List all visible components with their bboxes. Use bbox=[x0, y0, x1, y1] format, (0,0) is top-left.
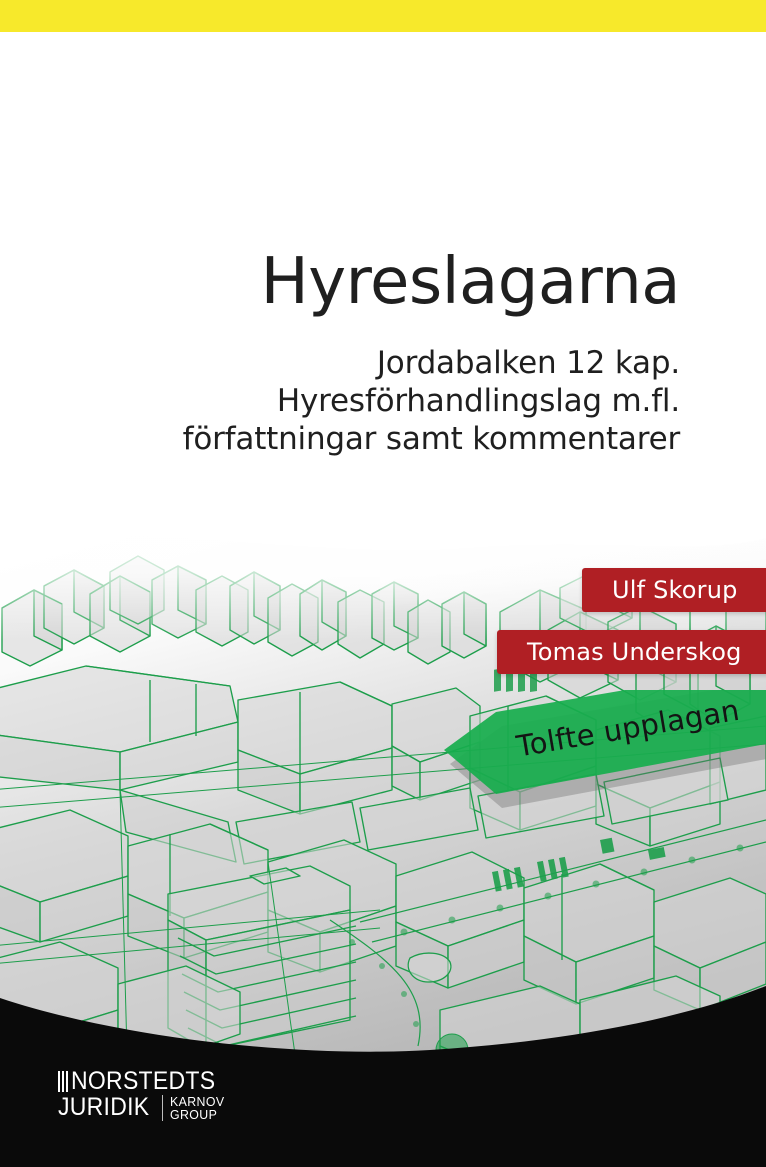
publisher-logo: NORSTEDTS JURIDIK KARNOV GROUP bbox=[58, 1068, 228, 1121]
subtitle-line-3: författningar samt kommentarer bbox=[40, 420, 680, 458]
book-cover: Hyreslagarna Jordabalken 12 kap. Hyresfö… bbox=[0, 0, 766, 1167]
logo-divider bbox=[162, 1095, 163, 1121]
subtitle-line-2: Hyresförhandlingslag m.fl. bbox=[40, 382, 680, 420]
subtitle-line-1: Jordabalken 12 kap. bbox=[40, 344, 680, 382]
book-subtitle: Jordabalken 12 kap. Hyresförhandlingslag… bbox=[40, 344, 680, 458]
publisher-name-line-1: NORSTEDTS bbox=[71, 1070, 215, 1092]
publisher-group: KARNOV GROUP bbox=[170, 1095, 224, 1121]
top-accent-band bbox=[0, 0, 766, 32]
edition-ribbon: Tolfte upplagan bbox=[430, 690, 766, 830]
logo-bars-icon bbox=[58, 1071, 68, 1092]
author-badge-2: Tomas Underskog bbox=[497, 630, 766, 674]
footer: NORSTEDTS JURIDIK KARNOV GROUP bbox=[0, 980, 766, 1167]
author-badge-1: Ulf Skorup bbox=[582, 568, 766, 612]
publisher-name-line-2: JURIDIK bbox=[58, 1095, 149, 1119]
publisher-logo-row-1: NORSTEDTS bbox=[58, 1068, 228, 1092]
title-block: Hyreslagarna Jordabalken 12 kap. Hyresfö… bbox=[40, 246, 680, 458]
book-title: Hyreslagarna bbox=[40, 246, 680, 318]
publisher-logo-row-2: JURIDIK KARNOV GROUP bbox=[58, 1095, 228, 1121]
publisher-group-line-2: GROUP bbox=[170, 1108, 224, 1121]
